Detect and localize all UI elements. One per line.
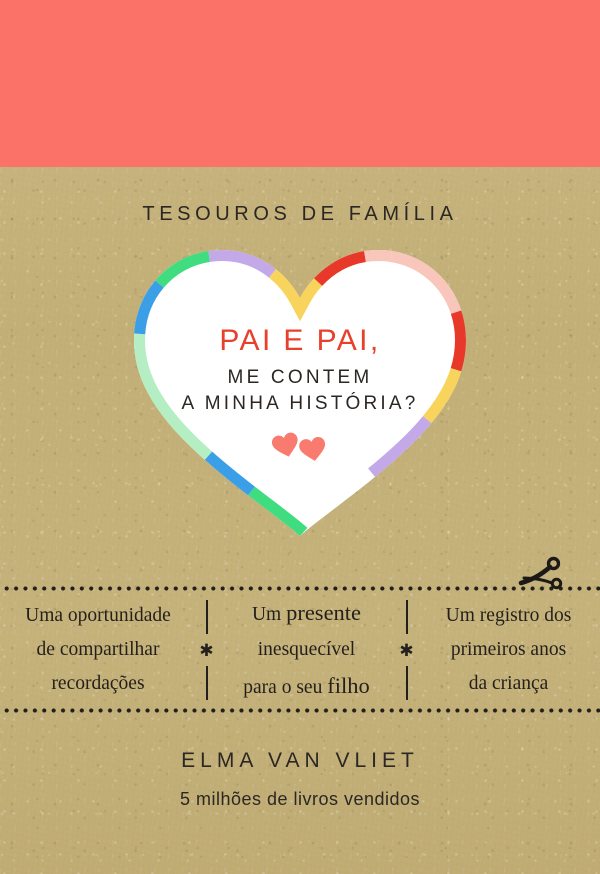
benefit-line: para o seu filho [219,667,395,706]
benefit-line: inesquecível [219,633,395,667]
author-name: ELMA VAN VLIET [0,749,600,773]
separator-bar-bottom [406,666,408,700]
heart-graphic [128,240,472,540]
benefit-column-2: Um presente inesquecível para o seu filh… [219,594,395,706]
benefit-line-emphasis: presente [286,600,361,625]
book-cover: TESOUROS DE FAMÍLIA [0,0,600,874]
star-icon: ✱ [395,638,419,662]
benefit-line: recordações [2,667,195,701]
series-title: TESOUROS DE FAMÍLIA [0,203,600,226]
cut-line-bottom [0,708,600,713]
coral-header-band [0,0,600,167]
benefit-column-3: Um registro dos primeiros anos da crianç… [419,599,599,700]
benefit-line: Um registro dos [419,599,599,633]
benefit-line-emphasis: filho [327,673,370,698]
benefit-separator-1: ✱ [195,598,219,702]
benefits-strip: Uma oportunidade de compartilhar recorda… [0,596,600,704]
cut-line-top [0,586,600,591]
sales-tagline: 5 milhões de livros vendidos [0,789,600,810]
heart-fill [134,250,466,536]
benefit-line: da criança [419,667,599,701]
benefit-line-part: Um [252,604,286,625]
separator-bar-top [406,600,408,634]
benefit-line-part: para o seu [243,677,327,698]
separator-bar-top [206,600,208,634]
benefit-column-1: Uma oportunidade de compartilhar recorda… [2,599,195,700]
benefit-line: Um presente [219,594,395,633]
scissors-icon [518,556,564,590]
benefit-line: primeiros anos [419,633,599,667]
benefit-line: de compartilhar [2,633,195,667]
star-icon: ✱ [195,638,219,662]
benefit-line: Uma oportunidade [2,599,195,633]
benefit-separator-2: ✱ [395,598,419,702]
separator-bar-bottom [206,666,208,700]
